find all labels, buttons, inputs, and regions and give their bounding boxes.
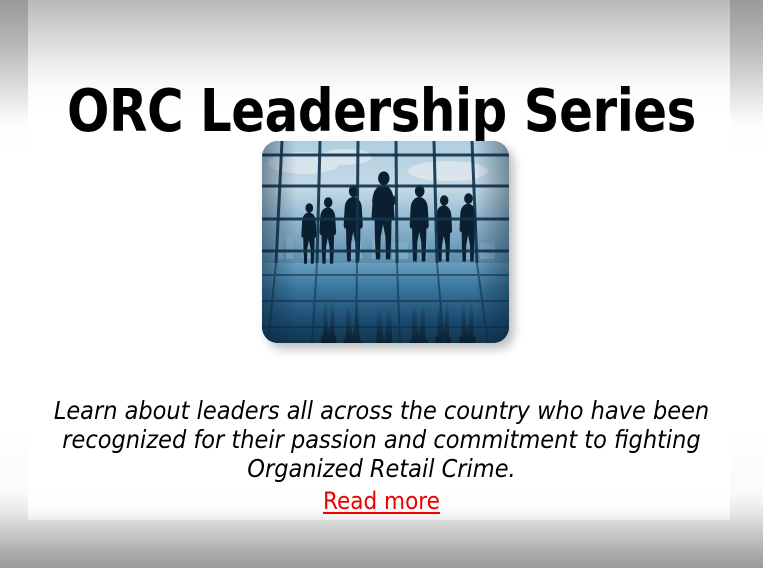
read-more-row: Read more <box>30 487 733 515</box>
read-more-link[interactable]: Read more <box>323 487 440 515</box>
business-people-silhouettes-photo <box>262 141 509 343</box>
promo-description: Learn about leaders all across the count… <box>30 396 733 483</box>
promo-card: ORC Leadership Series <box>0 0 763 568</box>
page-title: ORC Leadership Series <box>23 80 740 142</box>
hero-image-graphic <box>262 141 509 343</box>
